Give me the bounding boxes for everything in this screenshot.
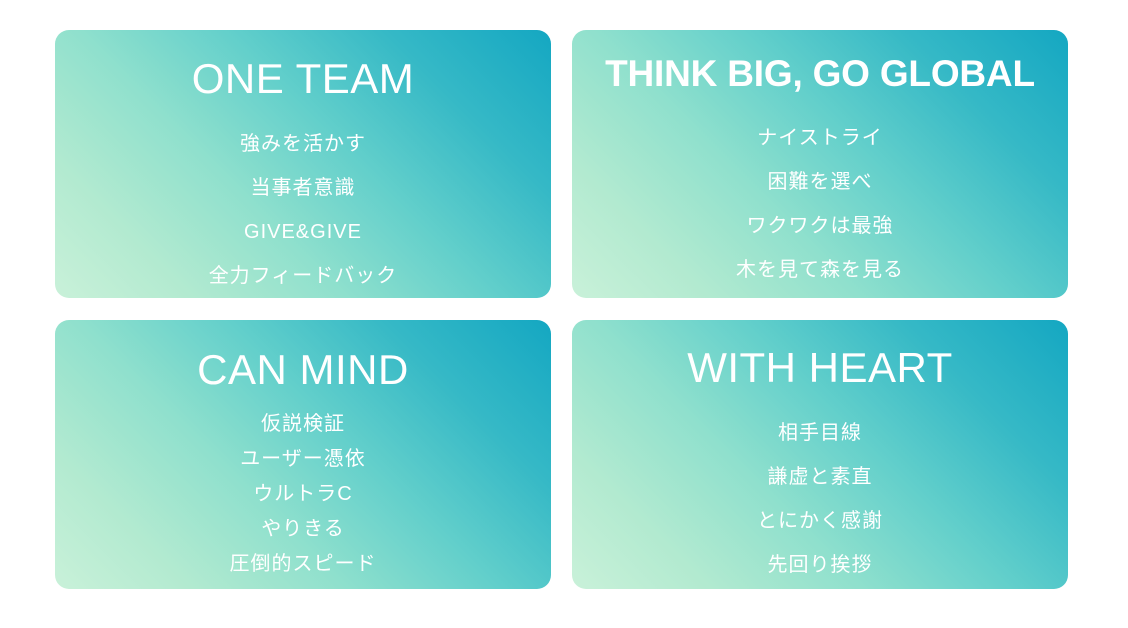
- value-item: 全力フィードバック: [209, 254, 398, 298]
- card-title-with-heart: WITH HEART: [687, 347, 953, 389]
- card-title-think-big-go-global: THINK BIG, GO GLOBAL: [605, 55, 1035, 92]
- card-title-can-mind: CAN MIND: [197, 349, 409, 391]
- card-value-list-with-heart: 相手目線 謙虚と素直 とにかく感謝 先回り挨拶: [757, 411, 883, 587]
- card-value-list-can-mind: 仮説検証 ユーザー憑依 ウルトラC やりきる 圧倒的スピード: [230, 407, 377, 582]
- value-card-think-big-go-global[interactable]: THINK BIG, GO GLOBAL ナイストライ 困難を選べ ワクワクは最…: [572, 30, 1068, 298]
- value-item: ウルトラC: [230, 477, 377, 512]
- value-item: 謙虚と素直: [757, 455, 883, 499]
- value-item: やりきる: [230, 512, 377, 547]
- value-item: ユーザー憑依: [230, 442, 377, 477]
- value-item: 困難を選べ: [736, 160, 904, 204]
- value-item: 仮説検証: [230, 407, 377, 442]
- value-item: 圧倒的スピード: [230, 547, 377, 582]
- value-item: GIVE&GIVE: [209, 210, 398, 254]
- value-item: 相手目線: [757, 411, 883, 455]
- card-value-list-think-big-go-global: ナイストライ 困難を選べ ワクワクは最強 木を見て森を見る: [736, 116, 904, 292]
- value-item: とにかく感謝: [757, 499, 883, 543]
- value-item: ワクワクは最強: [736, 204, 904, 248]
- value-card-with-heart[interactable]: WITH HEART 相手目線 謙虚と素直 とにかく感謝 先回り挨拶: [572, 320, 1068, 589]
- card-value-list-one-team: 強みを活かす 当事者意識 GIVE&GIVE 全力フィードバック: [209, 122, 398, 298]
- value-item: 先回り挨拶: [757, 543, 883, 587]
- values-grid: ONE TEAM 強みを活かす 当事者意識 GIVE&GIVE 全力フィードバッ…: [0, 0, 1128, 628]
- value-item: 当事者意識: [209, 166, 398, 210]
- value-item: ナイストライ: [736, 116, 904, 160]
- value-card-can-mind[interactable]: CAN MIND 仮説検証 ユーザー憑依 ウルトラC やりきる 圧倒的スピード: [55, 320, 551, 589]
- card-title-one-team: ONE TEAM: [192, 58, 415, 100]
- value-item: 木を見て森を見る: [736, 248, 904, 292]
- value-card-one-team[interactable]: ONE TEAM 強みを活かす 当事者意識 GIVE&GIVE 全力フィードバッ…: [55, 30, 551, 298]
- value-item: 強みを活かす: [209, 122, 398, 166]
